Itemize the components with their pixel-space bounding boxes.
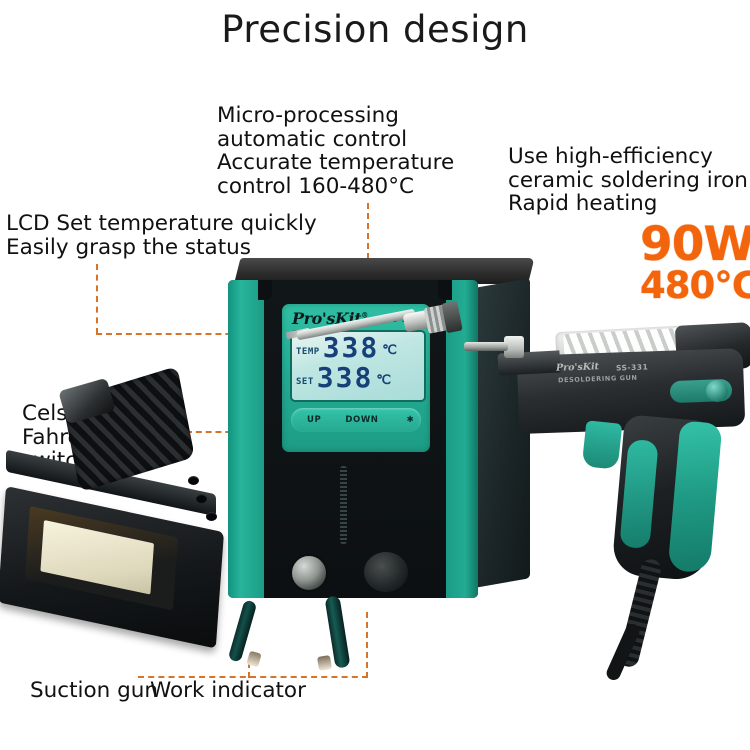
down-button[interactable]: DOWN — [345, 415, 378, 425]
lcd-unit-temp: ℃ — [382, 343, 397, 361]
button-bar: UP DOWN ✱ — [291, 408, 421, 432]
power-badge: 90W 480℃ — [640, 222, 746, 304]
callout-lcd: LCD Set temperature quickly Easily grasp… — [6, 212, 346, 259]
callout-micro-processing: Micro-processing automatic control Accur… — [217, 104, 497, 198]
soldering-station: Pro'sKit® SS-331 TEMP 338 ℃ SET 338 ℃ — [228, 258, 528, 598]
lcd-row-set: SET 338 ℃ — [296, 365, 391, 391]
infographic-canvas: Precision design Micro-processing automa… — [0, 0, 750, 750]
holder-hole — [196, 494, 207, 503]
gun-suction-tip — [464, 342, 508, 351]
lcd-value-temp: 338 — [323, 335, 380, 361]
callout-ceramic-iron: Use high-efficiency ceramic soldering ir… — [508, 145, 750, 216]
desoldering-gun: Pro'sKit SS-331 DESOLDERING GUN — [498, 322, 750, 652]
station-notch-right — [438, 280, 452, 300]
lcd-unit-set: ℃ — [376, 373, 391, 391]
leader-line-work-indicator-vertical — [366, 612, 368, 678]
celsius-fahrenheit-switch-button[interactable]: ✱ — [407, 415, 415, 425]
cord-plug-right — [317, 655, 332, 671]
gun-model-label: SS-331 — [616, 362, 649, 372]
station-notch-left — [258, 280, 272, 300]
leader-line-micro-processing — [367, 203, 369, 259]
up-button[interactable]: UP — [307, 415, 321, 425]
lcd-value-set: 338 — [317, 365, 374, 391]
gun-brand-label: Pro'sKit — [556, 361, 599, 373]
gun-trigger[interactable] — [582, 420, 623, 470]
gun-release-knob[interactable] — [706, 380, 728, 402]
lcd-label-temp: TEMP — [296, 347, 320, 361]
leader-line-lcd-vertical — [96, 264, 98, 334]
lcd-row-temp: TEMP 338 ℃ — [296, 335, 397, 361]
holder-hole — [188, 476, 199, 485]
leader-line-bottom-horizontal — [138, 676, 368, 678]
station-left-bezel — [228, 280, 264, 598]
badge-temperature: 480℃ — [640, 268, 746, 304]
soldering-iron-holder — [0, 400, 230, 635]
gun-connector-jack — [364, 552, 408, 592]
callout-suction-gun: Suction gun — [30, 679, 158, 703]
work-indicator-strip — [340, 466, 347, 544]
badge-watts: 90W — [640, 222, 746, 268]
lcd-display: TEMP 338 ℃ SET 338 ℃ — [290, 330, 426, 402]
cord-plug-left — [246, 651, 261, 668]
iron-connector-jack — [290, 554, 328, 592]
holder-hole — [206, 512, 217, 521]
page-title: Precision design — [0, 8, 750, 51]
lcd-label-set: SET — [296, 377, 314, 391]
callout-work-indicator: Work indicator — [150, 679, 306, 703]
